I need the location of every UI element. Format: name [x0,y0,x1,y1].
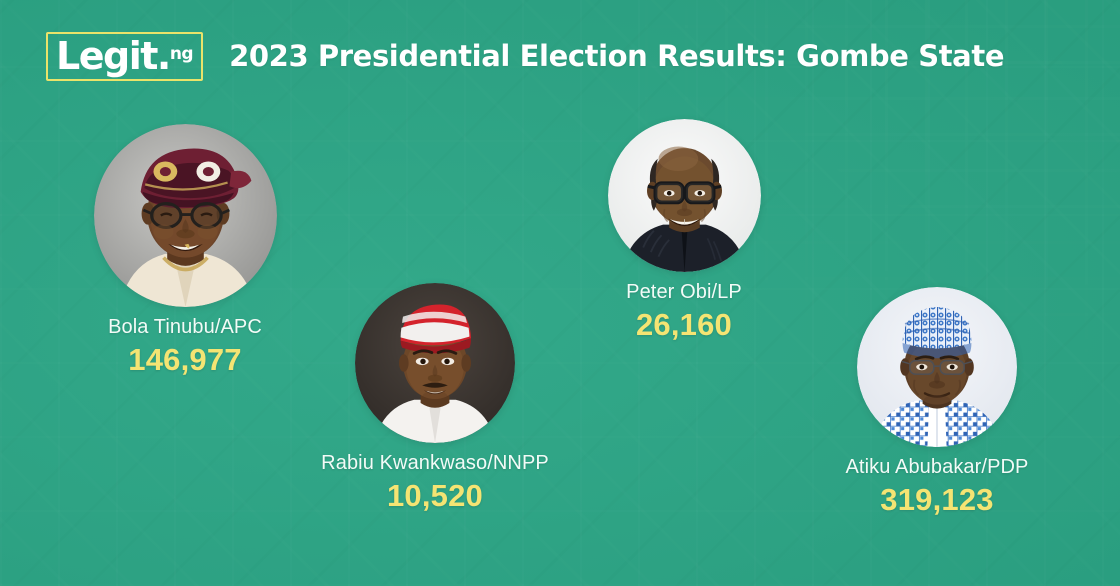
legit-ng-logo[interactable]: Legit . ng [46,32,203,81]
candidate-votes: 26,160 [589,307,779,343]
page-header: Legit . ng 2023 Presidential Election Re… [0,0,1120,112]
rabiu-kwankwaso-photo [355,283,515,443]
bola-tinubu-photo [94,124,277,307]
candidate-card-bola-tinubu: Bola Tinubu/APC 146,977 [41,124,329,378]
candidate-name: Atiku Abubakar/PDP [793,456,1081,479]
candidate-votes: 146,977 [41,342,329,378]
candidate-votes: 319,123 [793,482,1081,518]
candidate-votes: 10,520 [295,478,575,514]
atiku-abubakar-photo [857,287,1017,447]
candidate-name: Peter Obi/LP [589,281,779,304]
logo-wordmark: Legit [56,37,157,75]
logo-tld: ng [170,46,193,63]
candidate-card-peter-obi: Peter Obi/LP 26,160 [589,119,779,343]
logo-dot: . [157,37,170,75]
candidate-card-atiku-abubakar: Atiku Abubakar/PDP 319,123 [793,287,1081,518]
page-title: 2023 Presidential Election Results: Gomb… [229,39,1004,73]
peter-obi-photo [608,119,761,272]
candidate-name: Rabiu Kwankwaso/NNPP [295,452,575,475]
candidate-card-rabiu-kwankwaso: Rabiu Kwankwaso/NNPP 10,520 [295,283,575,514]
candidate-name: Bola Tinubu/APC [41,316,329,339]
